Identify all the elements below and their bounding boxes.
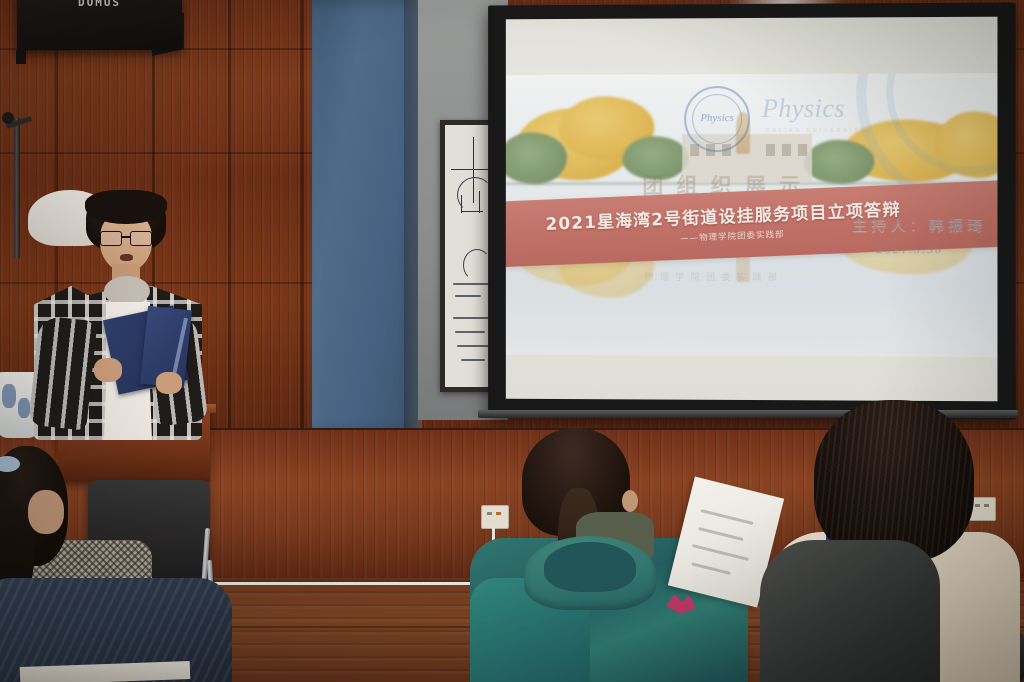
dark-coat-foreground xyxy=(760,540,940,682)
physics-wordmark: Physics xyxy=(762,96,845,122)
slide-host-label: 主持人：韩振琦 xyxy=(852,214,986,235)
screen-surface: Physics Physics DALIAN UNIVERSITY 团 组 织 … xyxy=(506,17,998,402)
projected-slide: Physics Physics DALIAN UNIVERSITY 团 组 织 … xyxy=(506,73,998,357)
physics-emblem-icon: Physics xyxy=(684,86,750,152)
power-cable-horizontal xyxy=(214,582,504,585)
slide-date: 2021.3.30 xyxy=(876,242,943,257)
lecture-hall-photo: DOMUS xyxy=(0,0,1024,682)
speaker-brand-label: DOMUS xyxy=(78,0,121,9)
emblem-label: Physics xyxy=(700,114,734,125)
projection-screen: Physics Physics DALIAN UNIVERSITY 团 组 织 … xyxy=(488,2,1016,419)
audience-center xyxy=(470,428,750,682)
presenter xyxy=(28,190,208,440)
physics-wordmark-sub: DALIAN UNIVERSITY xyxy=(766,128,867,134)
eyeglasses-icon xyxy=(100,231,122,246)
eyeglasses-icon-right xyxy=(130,231,152,246)
